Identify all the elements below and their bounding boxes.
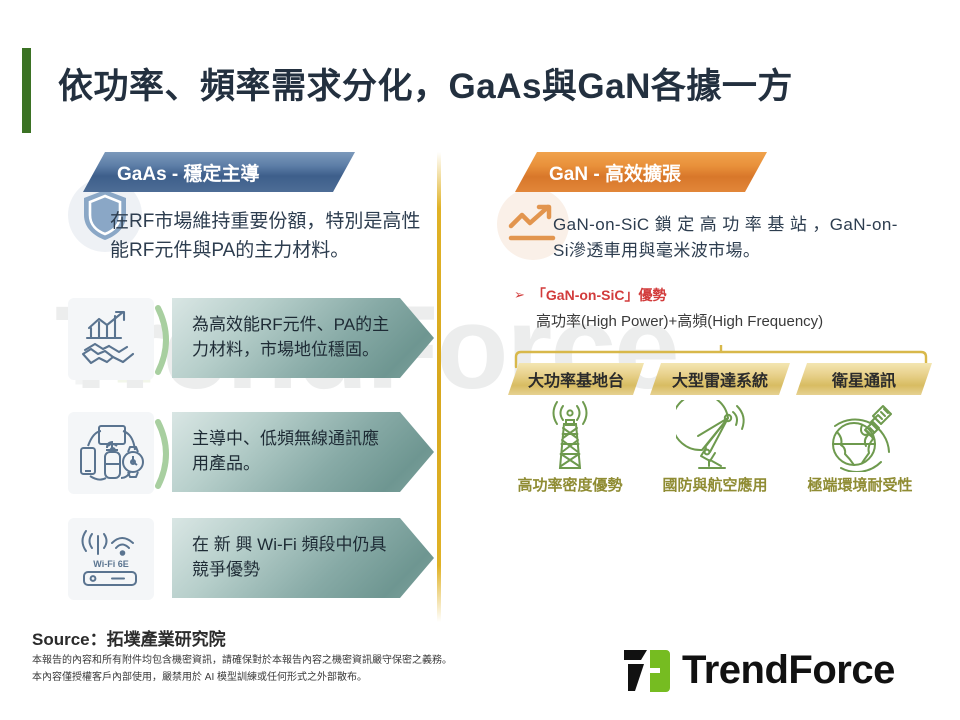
satellite-globe-icon (821, 400, 899, 472)
disclaimer-line-1: 本報告的內容和所有附件均包含機密資訊，請確保對於本報告內容之機密資訊嚴守保密之義… (32, 653, 452, 670)
feature-satellite-dish: 國防與航空應用 (645, 400, 785, 495)
chevron-arc-2 (154, 418, 180, 490)
feature-chevron-2[interactable]: 主導中、低頻無線通訊應用產品。 (172, 412, 434, 492)
satellite-dish-icon (676, 400, 754, 472)
trendforce-logo-icon (620, 645, 672, 695)
source-label: Source：拓墣產業研究院 (32, 625, 226, 650)
feature-text-1: 為高效能RF元件、PA的主力材料，市場地位穩固。 (172, 305, 434, 370)
feature-text-3: 在 新 興 Wi-Fi 頻段中仍具競爭優勢 (172, 525, 434, 590)
cell-tower-icon (531, 400, 609, 472)
feature-satellite-globe: 極端環境耐受性 (790, 400, 930, 495)
disclaimer-text: 本報告的內容和所有附件均包含機密資訊，請確保對於本報告內容之機密資訊嚴守保密之義… (32, 653, 452, 686)
feature-chevron-1[interactable]: 為高效能RF元件、PA的主力材料，市場地位穩固。 (172, 298, 434, 378)
wifi-router-icon: Wi-Fi 6E (68, 518, 154, 600)
chevron-arc-3 (154, 524, 180, 596)
bullet-heading-row: ➢ 「GaN-on-SiC」優勢 (514, 285, 823, 305)
column-divider (437, 152, 441, 622)
logo-text: TrendForce (682, 648, 895, 693)
connected-devices-icon (68, 412, 154, 494)
router-icon-label: Wi-Fi 6E (93, 559, 128, 569)
feature-caption-2: 國防與航空應用 (645, 474, 785, 495)
lead-text-gaas: 在RF市場維持重要份額，特別是高性能RF元件與PA的主力材料。 (110, 207, 430, 266)
feature-caption-1: 高功率密度優勢 (500, 474, 640, 495)
tag-large-radar-system[interactable]: 大型雷達系統 (650, 363, 790, 395)
section-banner-gaas: GaAs - 穩定主導 (83, 152, 355, 192)
tag-satellite-comms[interactable]: 衛星通訊 (796, 363, 932, 395)
feature-cell-tower: 高功率密度優勢 (500, 400, 640, 495)
title-accent-bar (22, 48, 31, 133)
tag-label-1: 大功率基地台 (528, 367, 624, 391)
trendforce-logo: TrendForce (620, 645, 895, 695)
bullet-arrow-icon: ➢ (514, 287, 525, 303)
banner-label-gan: GaN - 高效擴張 (549, 159, 681, 186)
slide-root: TrendForce 依功率、頻率需求分化，GaAs與GaN各據一方 GaAs … (0, 0, 960, 720)
banner-label-gaas: GaAs - 穩定主導 (117, 159, 260, 186)
feature-caption-3: 極端環境耐受性 (790, 474, 930, 495)
page-title: 依功率、頻率需求分化，GaAs與GaN各據一方 (58, 58, 793, 109)
lead-text-gan: GaN-on-SiC 鎖 定 高 功 率 基 站 ，GaN-on-Si滲透車用與… (553, 212, 903, 265)
bullet-subtext: 高功率(High Power)+高頻(High Frequency) (536, 310, 823, 331)
tag-label-3: 衛星通訊 (832, 367, 896, 391)
disclaimer-line-2: 本內容僅授權客戶內部使用，嚴禁用於 AI 模型訓練或任何形式之外部散布。 (32, 670, 452, 687)
section-banner-gan: GaN - 高效擴張 (515, 152, 767, 192)
feature-text-2: 主導中、低頻無線通訊應用產品。 (172, 419, 434, 484)
tag-high-power-base-station[interactable]: 大功率基地台 (508, 363, 644, 395)
tag-label-2: 大型雷達系統 (672, 367, 768, 391)
feature-chevron-3[interactable]: 在 新 興 Wi-Fi 頻段中仍具競爭優勢 (172, 518, 434, 598)
gan-advantage-bullet: ➢ 「GaN-on-SiC」優勢 高功率(High Power)+高頻(High… (514, 285, 823, 331)
bullet-heading: 「GaN-on-SiC」優勢 (532, 285, 667, 305)
chevron-arc-1 (154, 304, 180, 376)
handshake-growth-icon (68, 298, 154, 380)
